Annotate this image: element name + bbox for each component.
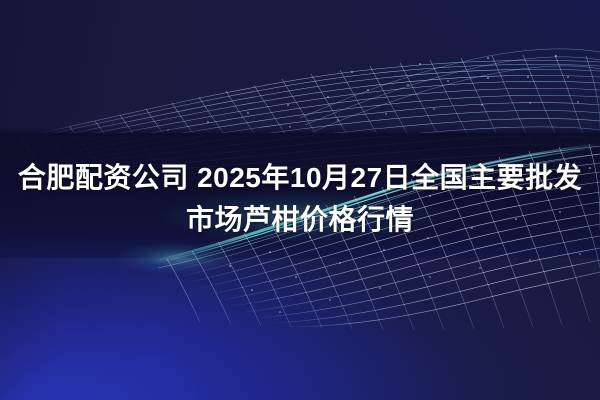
banner-headline: 合肥配资公司 2025年10月27日全国主要批发 市场芦柑价格行情 xyxy=(0,157,600,241)
headline-line-2: 市场芦柑价格行情 xyxy=(0,199,600,241)
headline-line-1: 合肥配资公司 2025年10月27日全国主要批发 xyxy=(0,157,600,199)
promo-banner: 合肥配资公司 2025年10月27日全国主要批发 市场芦柑价格行情 xyxy=(0,0,600,400)
